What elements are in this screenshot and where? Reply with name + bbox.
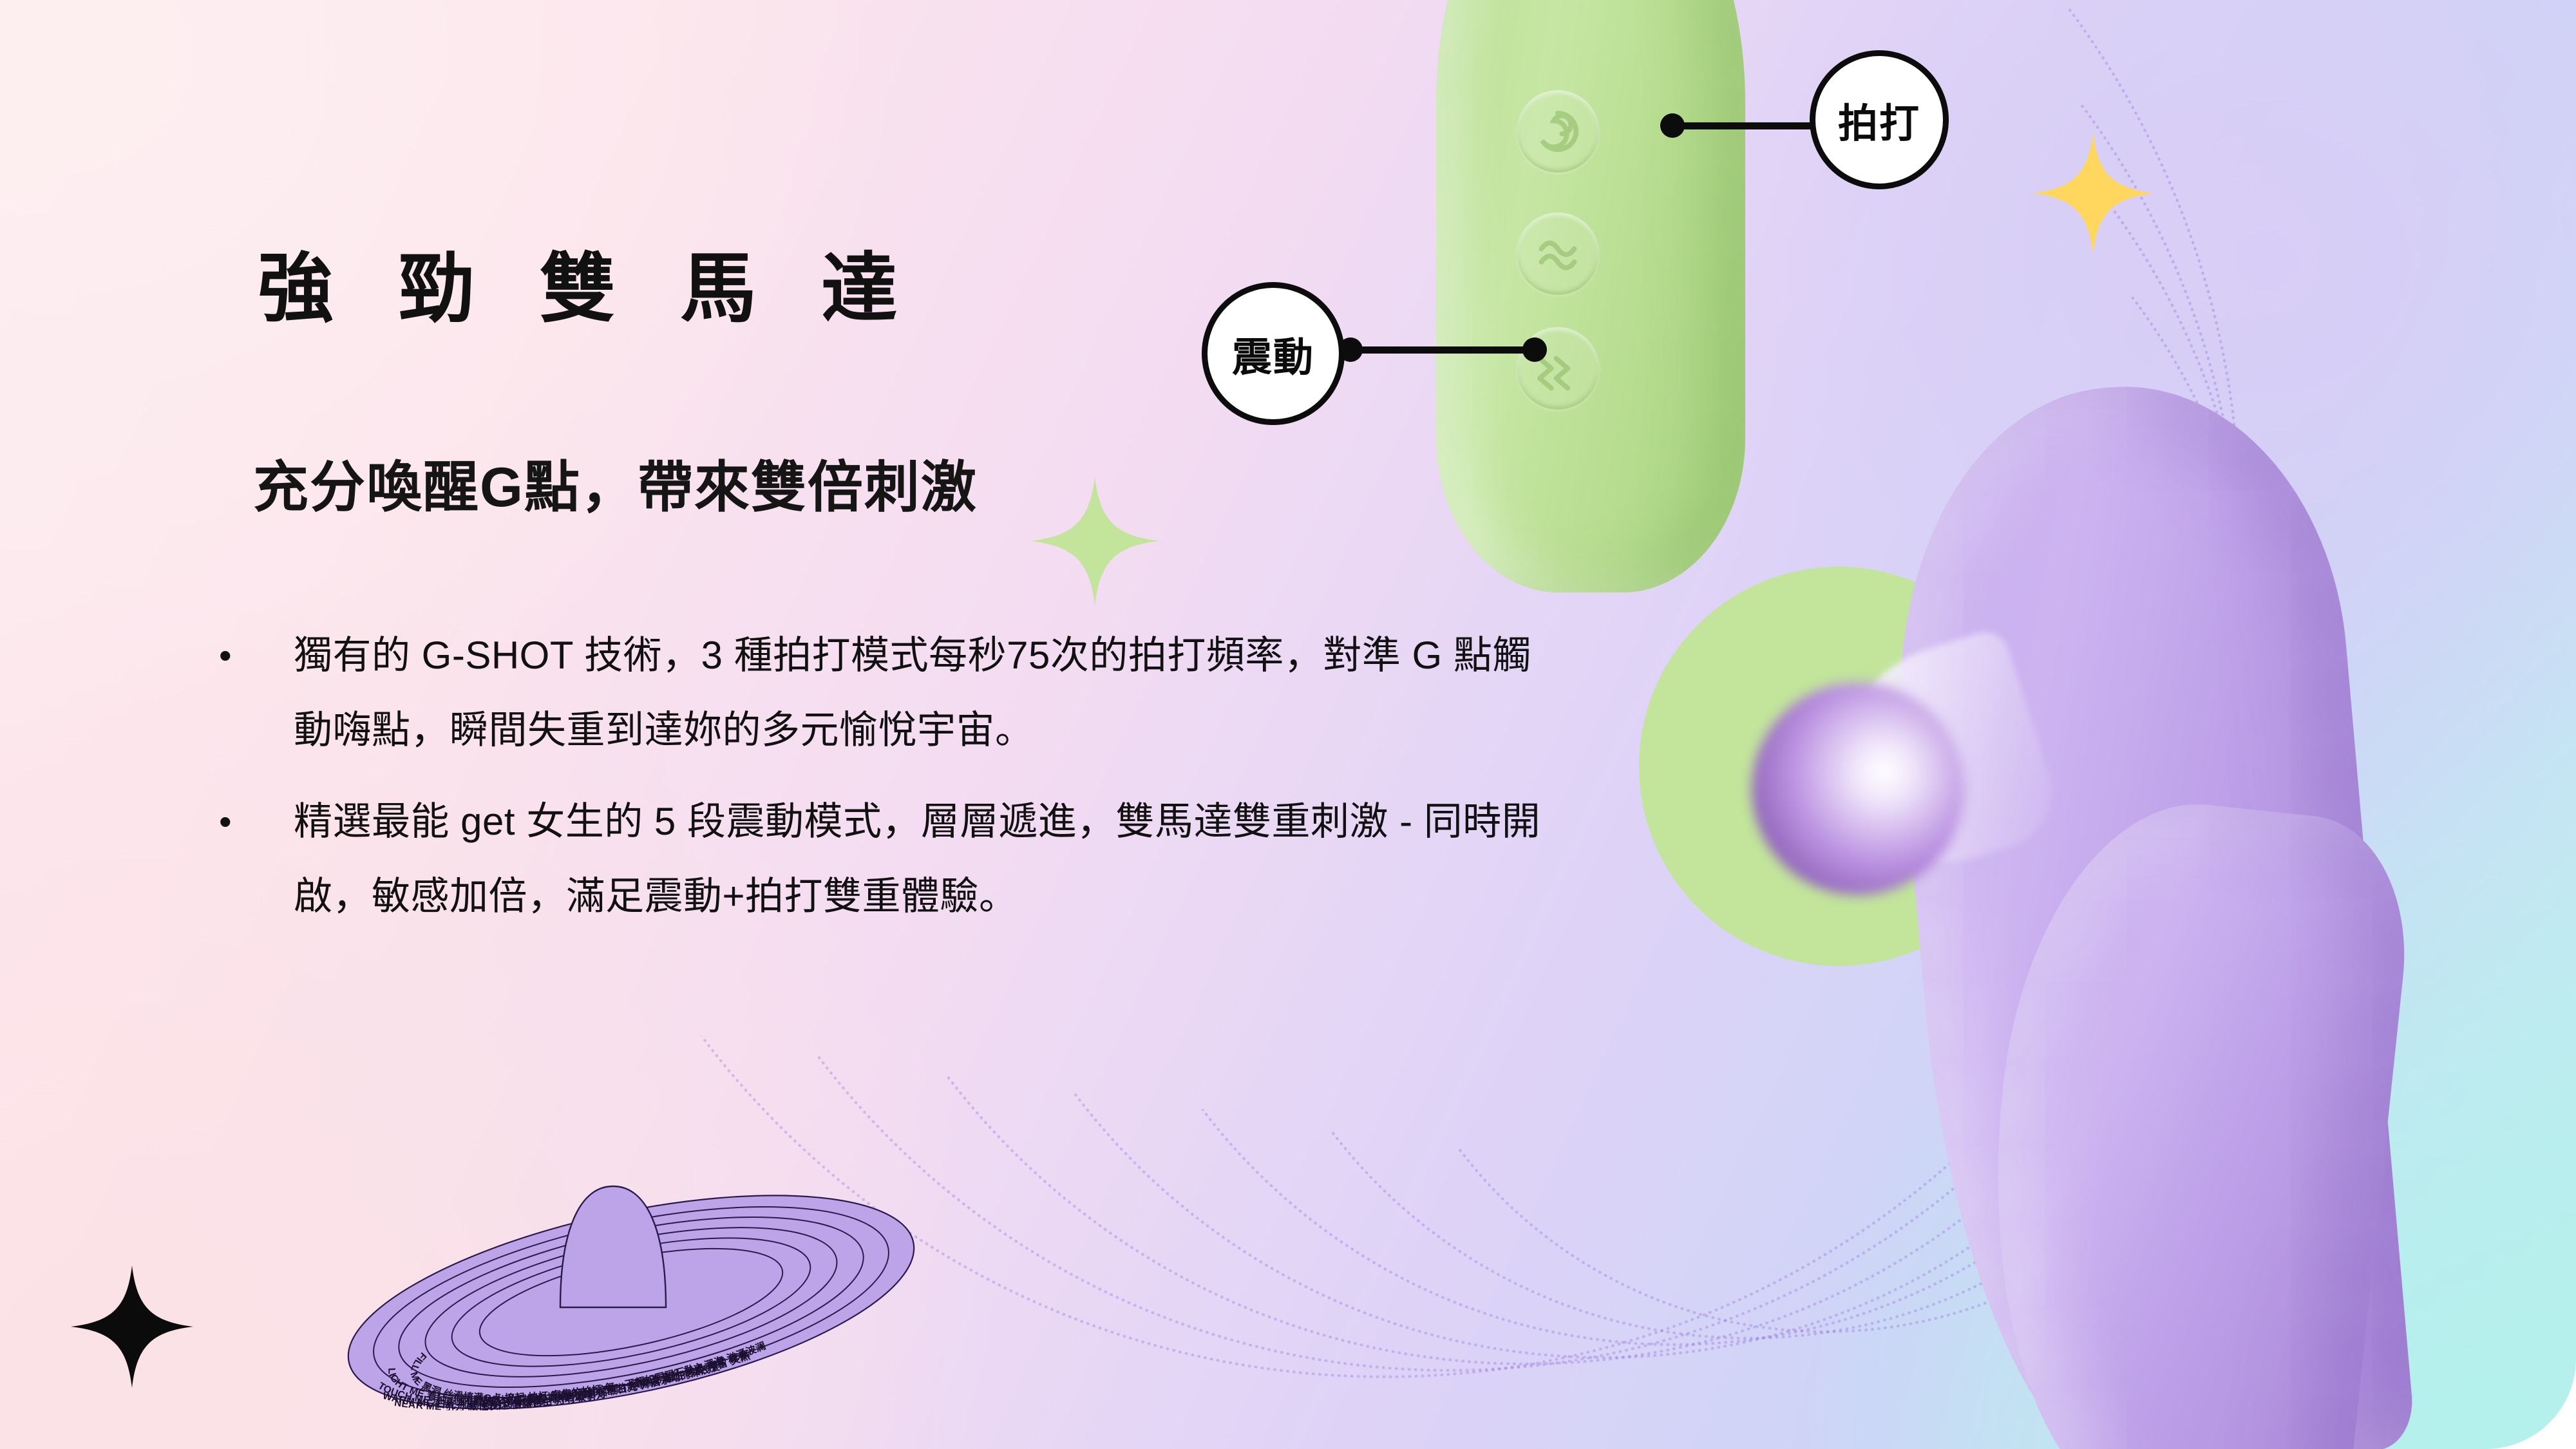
bullet-marker: • <box>219 618 294 768</box>
green-sparkle-icon <box>1030 477 1159 605</box>
black-sparkle-icon <box>71 1265 193 1388</box>
bullet-marker: • <box>219 784 294 934</box>
callout-bubble-vibration[interactable]: 震動 <box>1202 282 1345 425</box>
purple-device-head <box>1752 683 1964 895</box>
feature-bullet-list: • 獨有的 G-SHOT 技術，3 種拍打模式每秒75次的拍打頻率，對準 G 點… <box>219 618 1546 951</box>
callout-bubble-patting[interactable]: 拍打 <box>1810 50 1949 189</box>
bullet-text: 獨有的 G-SHOT 技術，3 種拍打模式每秒75次的拍打頻率，對準 G 點觸動… <box>294 618 1546 768</box>
device-button-spiral[interactable] <box>1517 90 1599 173</box>
callout-leader-line-2 <box>1346 346 1539 354</box>
list-item: • 獨有的 G-SHOT 技術，3 種拍打模式每秒75次的拍打頻率，對準 G 點… <box>219 618 1546 768</box>
wave-icon <box>1517 213 1599 295</box>
yellow-sparkle-icon <box>2032 132 2154 254</box>
callout-label-vibration: 震動 <box>1232 325 1314 383</box>
list-item: • 精選最能 get 女生的 5 段震動模式，層層遞進，雙馬達雙重刺激 - 同時… <box>219 784 1546 934</box>
saturn-graphic: NEAR ME 引力 敘性表达 情緒自由 万有吸引力 WARM ME 日光 加热… <box>322 1153 940 1410</box>
callout-label-patting: 拍打 <box>1838 91 1920 149</box>
spiral-icon <box>1517 90 1599 173</box>
callout-leader-dot-1-start <box>1660 113 1685 138</box>
callout-leader-dot-2-end <box>1522 337 1547 362</box>
bullet-text: 精選最能 get 女生的 5 段震動模式，層層遞進，雙馬達雙重刺激 - 同時開啟… <box>294 784 1546 934</box>
page-subtitle: 充分喚醒G點，帶來雙倍刺激 <box>253 442 978 522</box>
saturn-rings-logo: NEAR ME 引力 敘性表达 情緒自由 万有吸引力 WARM ME 日光 加热… <box>322 1153 940 1410</box>
page-title: 強 勁 雙 馬 達 <box>258 227 919 337</box>
green-device-body <box>1436 0 1745 592</box>
device-button-wave[interactable] <box>1517 213 1599 295</box>
promo-banner: 拍打 震動 強 勁 雙 馬 達 充分喚醒G點，帶來雙倍刺激 • 獨有的 G-SH… <box>0 0 2576 1449</box>
